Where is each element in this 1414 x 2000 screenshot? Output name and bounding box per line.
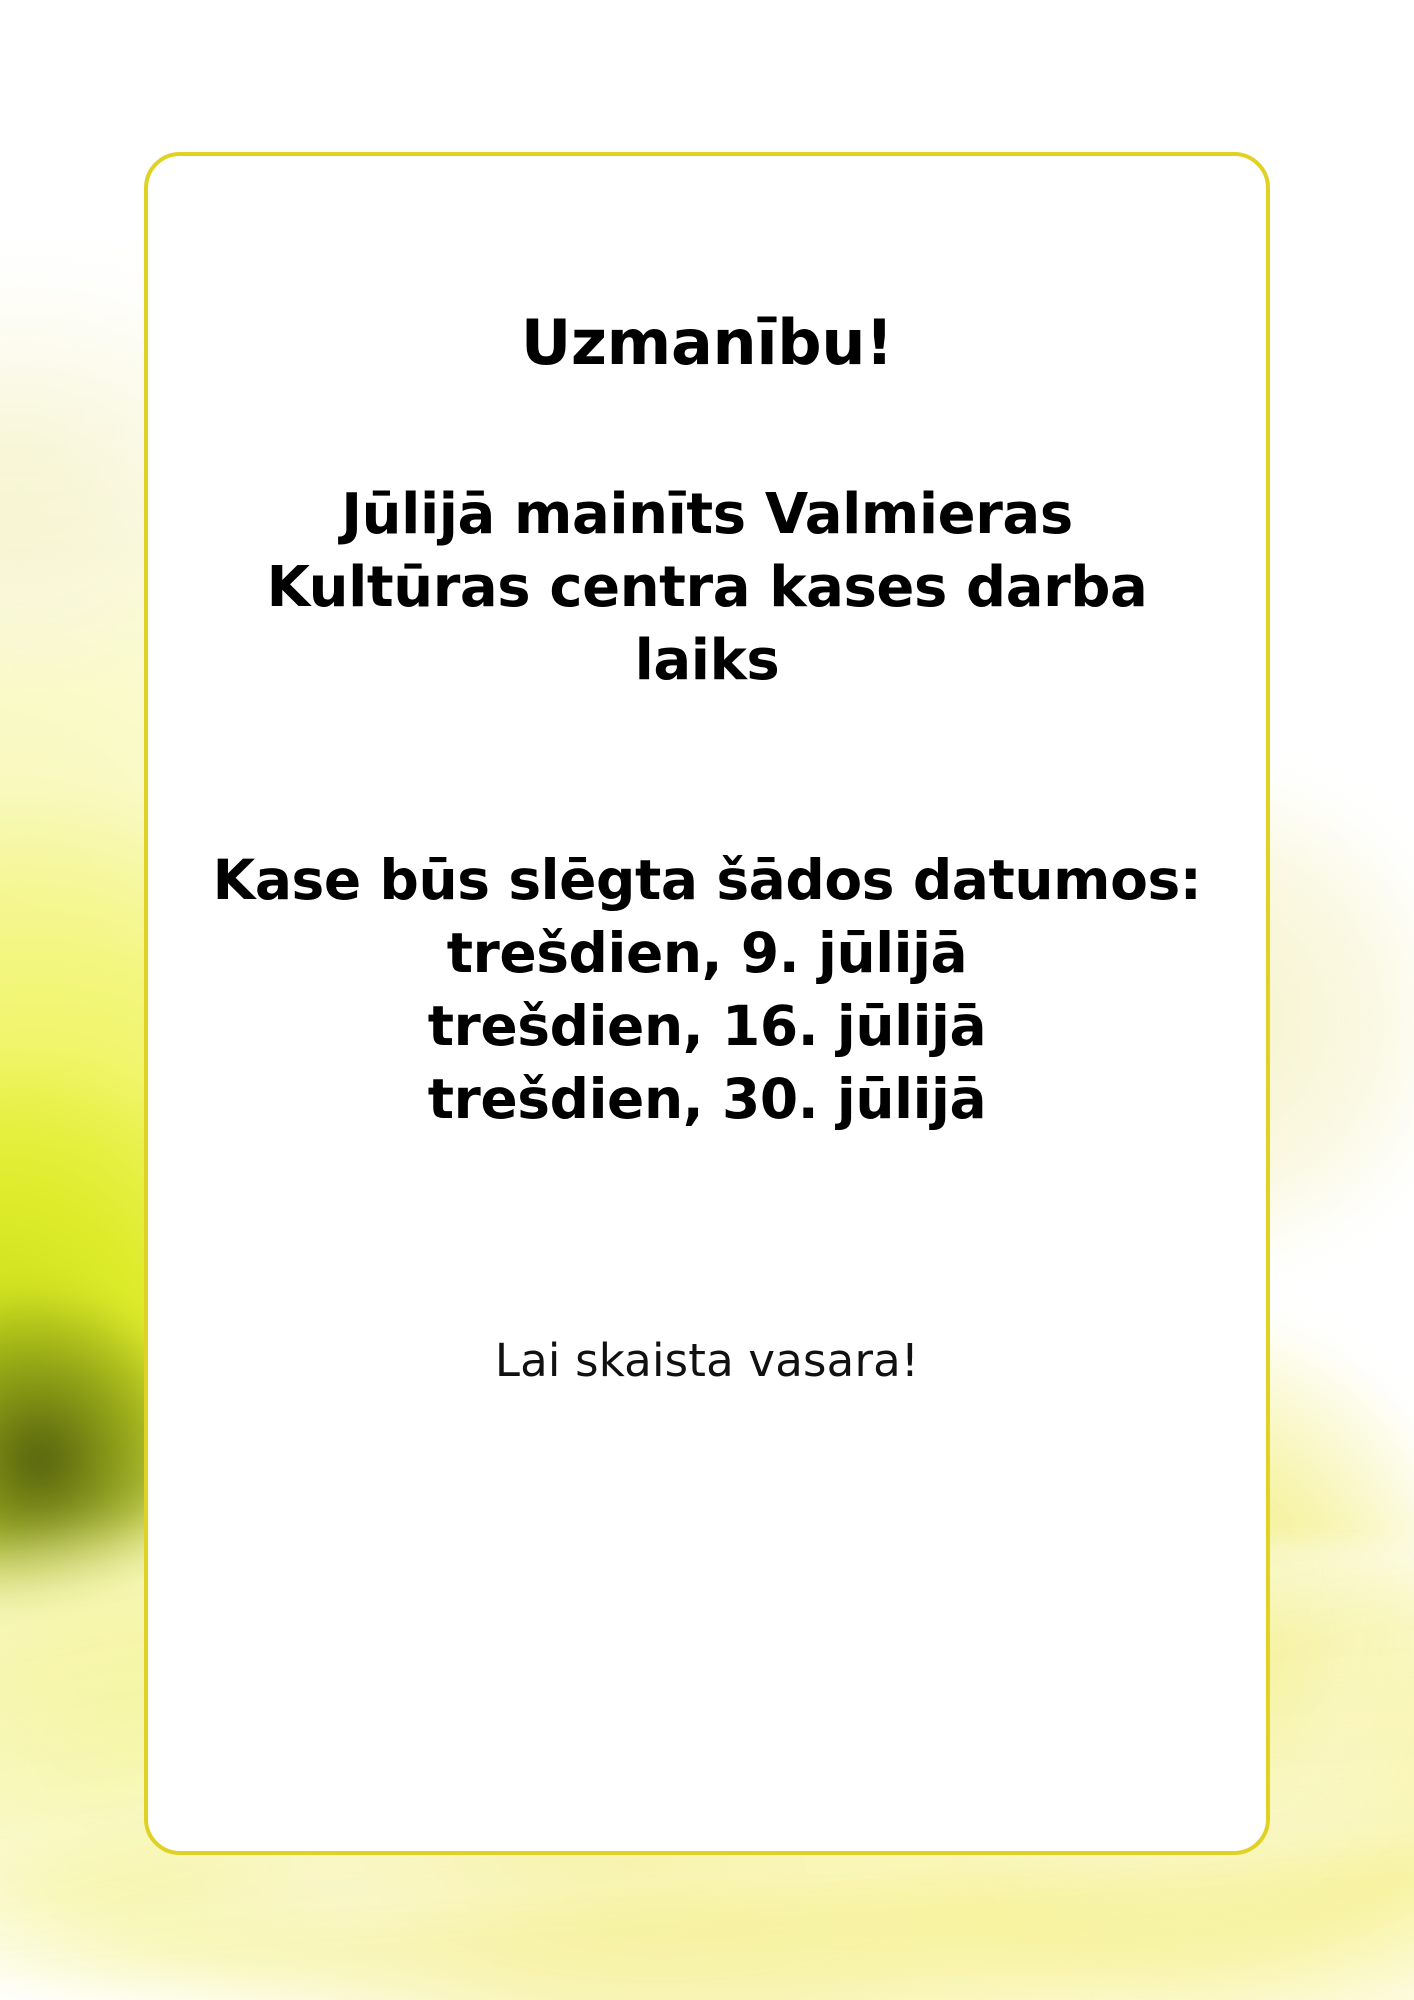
closure-date-1: trešdien, 9. jūlijā [200,917,1214,990]
notice-content: Uzmanību! Jūlijā mainīts Valmieras Kultū… [148,156,1266,1391]
closure-date-3: trešdien, 30. jūlijā [200,1063,1214,1136]
closure-dates-block: Kase būs slēgta šādos datumos: trešdien,… [200,844,1214,1137]
closing-message: Lai skaista vasara! [200,1332,1214,1391]
closure-dates-intro: Kase būs slēgta šādos datumos: [200,844,1214,917]
notice-card: Uzmanību! Jūlijā mainīts Valmieras Kultū… [144,152,1270,1855]
poster: Uzmanību! Jūlijā mainīts Valmieras Kultū… [0,0,1414,2000]
notice-title: Uzmanību! [200,306,1214,379]
closure-date-2: trešdien, 16. jūlijā [200,990,1214,1063]
notice-heading: Jūlijā mainīts Valmieras Kultūras centra… [200,479,1214,697]
